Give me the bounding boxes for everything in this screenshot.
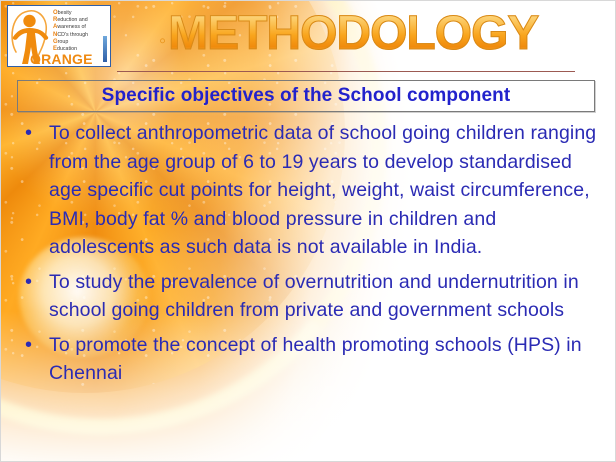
objective-text: To collect anthropometric data of school…	[49, 119, 601, 262]
logo-line-obesity: Obesity	[53, 10, 108, 17]
page-title: METHODOLOGY	[168, 5, 538, 63]
logo-line-awareness: Awareness of	[53, 24, 108, 31]
subtitle-box: Specific objectives of the School compon…	[17, 80, 595, 112]
presentation-slide: Obesity Reduction and Awareness of NCD's…	[0, 0, 616, 462]
subtitle-text: Specific objectives of the School compon…	[102, 85, 511, 107]
title-bullet-icon: ◦	[159, 31, 166, 51]
slide-title-group: ◦ METHODOLOGY	[159, 5, 538, 63]
logo-line-group: Group	[53, 39, 108, 46]
title-underline-rule	[117, 71, 575, 72]
logo-acronym-word: ORANGE	[30, 52, 93, 66]
bullet-marker-icon: •	[21, 119, 49, 148]
objective-text: To study the prevalence of overnutrition…	[49, 268, 601, 325]
bullet-marker-icon: •	[21, 331, 49, 360]
objective-text: To promote the concept of health promoti…	[49, 331, 601, 388]
bullet-marker-icon: •	[21, 268, 49, 297]
list-item: • To promote the concept of health promo…	[21, 331, 601, 388]
orange-project-logo: Obesity Reduction and Awareness of NCD's…	[7, 5, 111, 67]
objectives-list: • To collect anthropometric data of scho…	[21, 119, 601, 394]
list-item: • To study the prevalence of overnutriti…	[21, 268, 601, 325]
logo-line-reduction: Reduction and	[53, 17, 108, 24]
list-item: • To collect anthropometric data of scho…	[21, 119, 601, 262]
logo-bar-accent	[103, 36, 107, 62]
logo-line-ncd: NCD's through	[53, 32, 108, 39]
